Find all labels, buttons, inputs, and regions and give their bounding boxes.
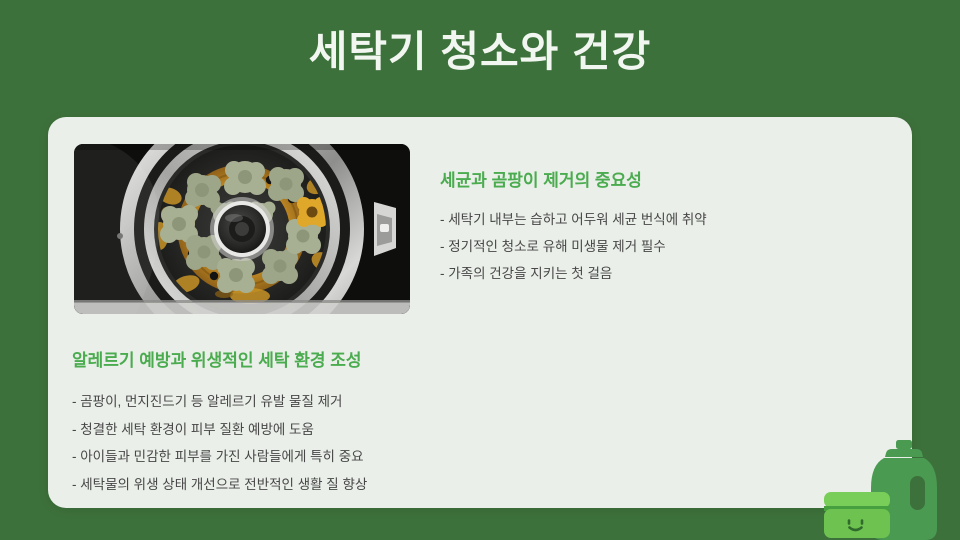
bottom-section-bullets: - 곰팡이, 먼지진드기 등 알레르기 유발 물질 제거 - 청결한 세탁 환경… [72, 388, 772, 499]
page-title: 세탁기 청소와 건강 [0, 27, 960, 77]
list-item: - 청결한 세탁 환경이 피부 질환 예방에 도움 [72, 416, 772, 444]
content-card: 세균과 곰팡이 제거의 중요성 - 세탁기 내부는 습하고 어두워 세균 번식에… [48, 117, 912, 508]
top-section-heading: 세균과 곰팡이 제거의 중요성 [440, 170, 890, 192]
list-item: - 세탁물의 위생 상태 개선으로 전반적인 생활 질 향상 [72, 471, 772, 499]
top-section-bullets: - 세탁기 내부는 습하고 어두워 세균 번식에 취약 - 정기적인 청소로 유… [440, 206, 890, 287]
bottom-text-block: 알레르기 예방과 위생적인 세탁 환경 조성 - 곰팡이, 먼지진드기 등 알레… [72, 350, 772, 499]
list-item: - 아이들과 민감한 피부를 가진 사람들에게 특히 중요 [72, 443, 772, 471]
washing-machine-drum-photo [74, 144, 410, 314]
list-item: - 곰팡이, 먼지진드기 등 알레르기 유발 물질 제거 [72, 388, 772, 416]
list-item: - 정기적인 청소로 유해 미생물 제거 필수 [440, 233, 890, 260]
list-item: - 가족의 건강을 지키는 첫 걸음 [440, 260, 890, 287]
list-item: - 세탁기 내부는 습하고 어두워 세균 번식에 취약 [440, 206, 890, 233]
bottom-section-heading: 알레르기 예방과 위생적인 세탁 환경 조성 [72, 350, 772, 372]
top-text-block: 세균과 곰팡이 제거의 중요성 - 세탁기 내부는 습하고 어두워 세균 번식에… [440, 170, 890, 287]
slide-root: 세탁기 청소와 건강 [0, 0, 960, 540]
top-row: 세균과 곰팡이 제거의 중요성 - 세탁기 내부는 습하고 어두워 세균 번식에… [48, 117, 912, 327]
